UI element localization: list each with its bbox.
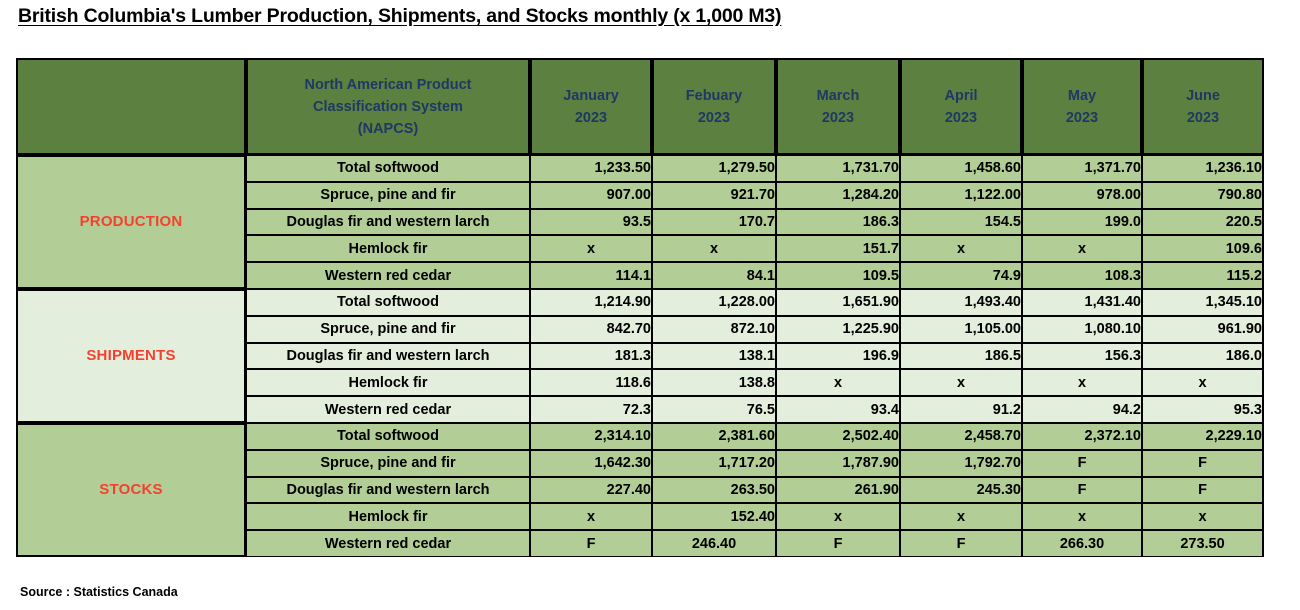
value-cell-flag: x <box>530 235 652 262</box>
header-month-march: March 2023 <box>776 58 900 155</box>
value-cell: 246.40 <box>652 530 776 557</box>
value-cell: 84.1 <box>652 262 776 289</box>
value-cell: 72.3 <box>530 396 652 423</box>
value-cell-flag: x <box>1022 369 1142 396</box>
value-cell: 196.9 <box>776 343 900 370</box>
product-name-cell: Western red cedar <box>246 262 530 289</box>
value-cell-flag: x <box>530 503 652 530</box>
value-cell: 94.2 <box>1022 396 1142 423</box>
value-cell: 154.5 <box>900 209 1022 236</box>
value-cell-flag: F <box>1142 477 1264 504</box>
value-cell-flag: F <box>1142 450 1264 477</box>
value-cell: 152.40 <box>652 503 776 530</box>
value-cell-flag: F <box>1022 477 1142 504</box>
group-label-production: PRODUCTION <box>16 155 246 289</box>
value-cell-flag: x <box>1142 369 1264 396</box>
value-cell: 2,314.10 <box>530 423 652 450</box>
value-cell: 76.5 <box>652 396 776 423</box>
value-cell: 2,381.60 <box>652 423 776 450</box>
page-title: British Columbia's Lumber Production, Sh… <box>18 5 781 28</box>
value-cell: 1,080.10 <box>1022 316 1142 343</box>
product-name-cell: Hemlock fir <box>246 235 530 262</box>
group-label-shipments: SHIPMENTS <box>16 289 246 423</box>
value-cell: 1,122.00 <box>900 182 1022 209</box>
product-name-cell: Spruce, pine and fir <box>246 182 530 209</box>
table-body: PRODUCTIONTotal softwood1,233.501,279.50… <box>16 155 1264 557</box>
value-cell: 95.3 <box>1142 396 1264 423</box>
value-cell: 118.6 <box>530 369 652 396</box>
value-cell: 115.2 <box>1142 262 1264 289</box>
value-cell: 1,731.70 <box>776 155 900 182</box>
table-row: STOCKSTotal softwood2,314.102,381.602,50… <box>16 423 1264 450</box>
header-month-year: 2023 <box>1024 107 1140 129</box>
value-cell: 138.8 <box>652 369 776 396</box>
value-cell: 842.70 <box>530 316 652 343</box>
product-name-cell: Western red cedar <box>246 530 530 557</box>
value-cell-flag: x <box>776 503 900 530</box>
value-cell: 1,642.30 <box>530 450 652 477</box>
header-napcs: North American Product Classification Sy… <box>246 58 530 155</box>
header-month-name: Febuary <box>654 85 774 107</box>
value-cell: 1,787.90 <box>776 450 900 477</box>
value-cell: 108.3 <box>1022 262 1142 289</box>
header-month-january: January 2023 <box>530 58 652 155</box>
value-cell-flag: x <box>900 235 1022 262</box>
value-cell: 156.3 <box>1022 343 1142 370</box>
value-cell: 91.2 <box>900 396 1022 423</box>
value-cell-flag: F <box>1022 450 1142 477</box>
header-month-june: June 2023 <box>1142 58 1264 155</box>
value-cell: 181.3 <box>530 343 652 370</box>
header-month-febuary: Febuary 2023 <box>652 58 776 155</box>
header-month-name: April <box>902 85 1020 107</box>
page-root: British Columbia's Lumber Production, Sh… <box>0 0 1300 610</box>
header-month-name: January <box>532 85 650 107</box>
header-group-column <box>16 58 246 155</box>
value-cell: 1,236.10 <box>1142 155 1264 182</box>
value-cell: 1,284.20 <box>776 182 900 209</box>
value-cell-flag: F <box>900 530 1022 557</box>
value-cell: 114.1 <box>530 262 652 289</box>
value-cell: 220.5 <box>1142 209 1264 236</box>
value-cell: 1,792.70 <box>900 450 1022 477</box>
value-cell: 1,105.00 <box>900 316 1022 343</box>
value-cell: 245.30 <box>900 477 1022 504</box>
table-row: PRODUCTIONTotal softwood1,233.501,279.50… <box>16 155 1264 182</box>
product-name-cell: Total softwood <box>246 423 530 450</box>
value-cell-flag: x <box>900 503 1022 530</box>
value-cell: 2,458.70 <box>900 423 1022 450</box>
value-cell-flag: x <box>776 369 900 396</box>
value-cell-flag: x <box>900 369 1022 396</box>
value-cell: 1,214.90 <box>530 289 652 316</box>
value-cell: 1,228.00 <box>652 289 776 316</box>
value-cell: 186.0 <box>1142 343 1264 370</box>
table-row: SHIPMENTSTotal softwood1,214.901,228.001… <box>16 289 1264 316</box>
value-cell: 872.10 <box>652 316 776 343</box>
source-note: Source : Statistics Canada <box>20 585 178 599</box>
value-cell: 790.80 <box>1142 182 1264 209</box>
product-name-cell: Douglas fir and western larch <box>246 343 530 370</box>
value-cell: 907.00 <box>530 182 652 209</box>
product-name-cell: Hemlock fir <box>246 369 530 396</box>
value-cell: 109.5 <box>776 262 900 289</box>
value-cell-flag: x <box>1022 503 1142 530</box>
value-cell: 93.4 <box>776 396 900 423</box>
value-cell: 978.00 <box>1022 182 1142 209</box>
header-napcs-line-3: (NAPCS) <box>248 118 528 140</box>
value-cell: 1,717.20 <box>652 450 776 477</box>
header-month-year: 2023 <box>902 107 1020 129</box>
header-month-name: March <box>778 85 898 107</box>
header-month-may: May 2023 <box>1022 58 1142 155</box>
value-cell-flag: x <box>1142 503 1264 530</box>
group-label-stocks: STOCKS <box>16 423 246 557</box>
table-header: North American Product Classification Sy… <box>16 58 1264 155</box>
value-cell: 151.7 <box>776 235 900 262</box>
product-name-cell: Spruce, pine and fir <box>246 316 530 343</box>
lumber-data-table: North American Product Classification Sy… <box>16 58 1264 557</box>
value-cell: 74.9 <box>900 262 1022 289</box>
value-cell: 1,225.90 <box>776 316 900 343</box>
header-month-april: April 2023 <box>900 58 1022 155</box>
value-cell-flag: x <box>652 235 776 262</box>
product-name-cell: Hemlock fir <box>246 503 530 530</box>
value-cell: 138.1 <box>652 343 776 370</box>
product-name-cell: Total softwood <box>246 289 530 316</box>
value-cell: 1,345.10 <box>1142 289 1264 316</box>
header-row: North American Product Classification Sy… <box>16 58 1264 155</box>
value-cell: 186.3 <box>776 209 900 236</box>
value-cell: 2,502.40 <box>776 423 900 450</box>
header-month-year: 2023 <box>654 107 774 129</box>
header-month-name: June <box>1144 85 1262 107</box>
product-name-cell: Western red cedar <box>246 396 530 423</box>
value-cell: 1,279.50 <box>652 155 776 182</box>
value-cell: 2,372.10 <box>1022 423 1142 450</box>
value-cell: 961.90 <box>1142 316 1264 343</box>
product-name-cell: Douglas fir and western larch <box>246 209 530 236</box>
header-napcs-line-1: North American Product <box>248 74 528 96</box>
lumber-table-container: North American Product Classification Sy… <box>16 58 1264 557</box>
value-cell: 2,229.10 <box>1142 423 1264 450</box>
value-cell: 1,233.50 <box>530 155 652 182</box>
value-cell: 227.40 <box>530 477 652 504</box>
value-cell: 109.6 <box>1142 235 1264 262</box>
header-month-year: 2023 <box>1144 107 1262 129</box>
value-cell: 186.5 <box>900 343 1022 370</box>
value-cell: 1,493.40 <box>900 289 1022 316</box>
value-cell: 199.0 <box>1022 209 1142 236</box>
value-cell: 263.50 <box>652 477 776 504</box>
header-month-year: 2023 <box>778 107 898 129</box>
value-cell: 93.5 <box>530 209 652 236</box>
header-napcs-line-2: Classification System <box>248 96 528 118</box>
value-cell-flag: x <box>1022 235 1142 262</box>
value-cell: 1,371.70 <box>1022 155 1142 182</box>
product-name-cell: Spruce, pine and fir <box>246 450 530 477</box>
value-cell-flag: F <box>776 530 900 557</box>
value-cell: 1,458.60 <box>900 155 1022 182</box>
header-month-year: 2023 <box>532 107 650 129</box>
value-cell: 261.90 <box>776 477 900 504</box>
header-month-name: May <box>1024 85 1140 107</box>
value-cell: 921.70 <box>652 182 776 209</box>
value-cell: 1,651.90 <box>776 289 900 316</box>
product-name-cell: Douglas fir and western larch <box>246 477 530 504</box>
product-name-cell: Total softwood <box>246 155 530 182</box>
value-cell: 1,431.40 <box>1022 289 1142 316</box>
value-cell-flag: F <box>530 530 652 557</box>
value-cell: 273.50 <box>1142 530 1264 557</box>
value-cell: 266.30 <box>1022 530 1142 557</box>
value-cell: 170.7 <box>652 209 776 236</box>
